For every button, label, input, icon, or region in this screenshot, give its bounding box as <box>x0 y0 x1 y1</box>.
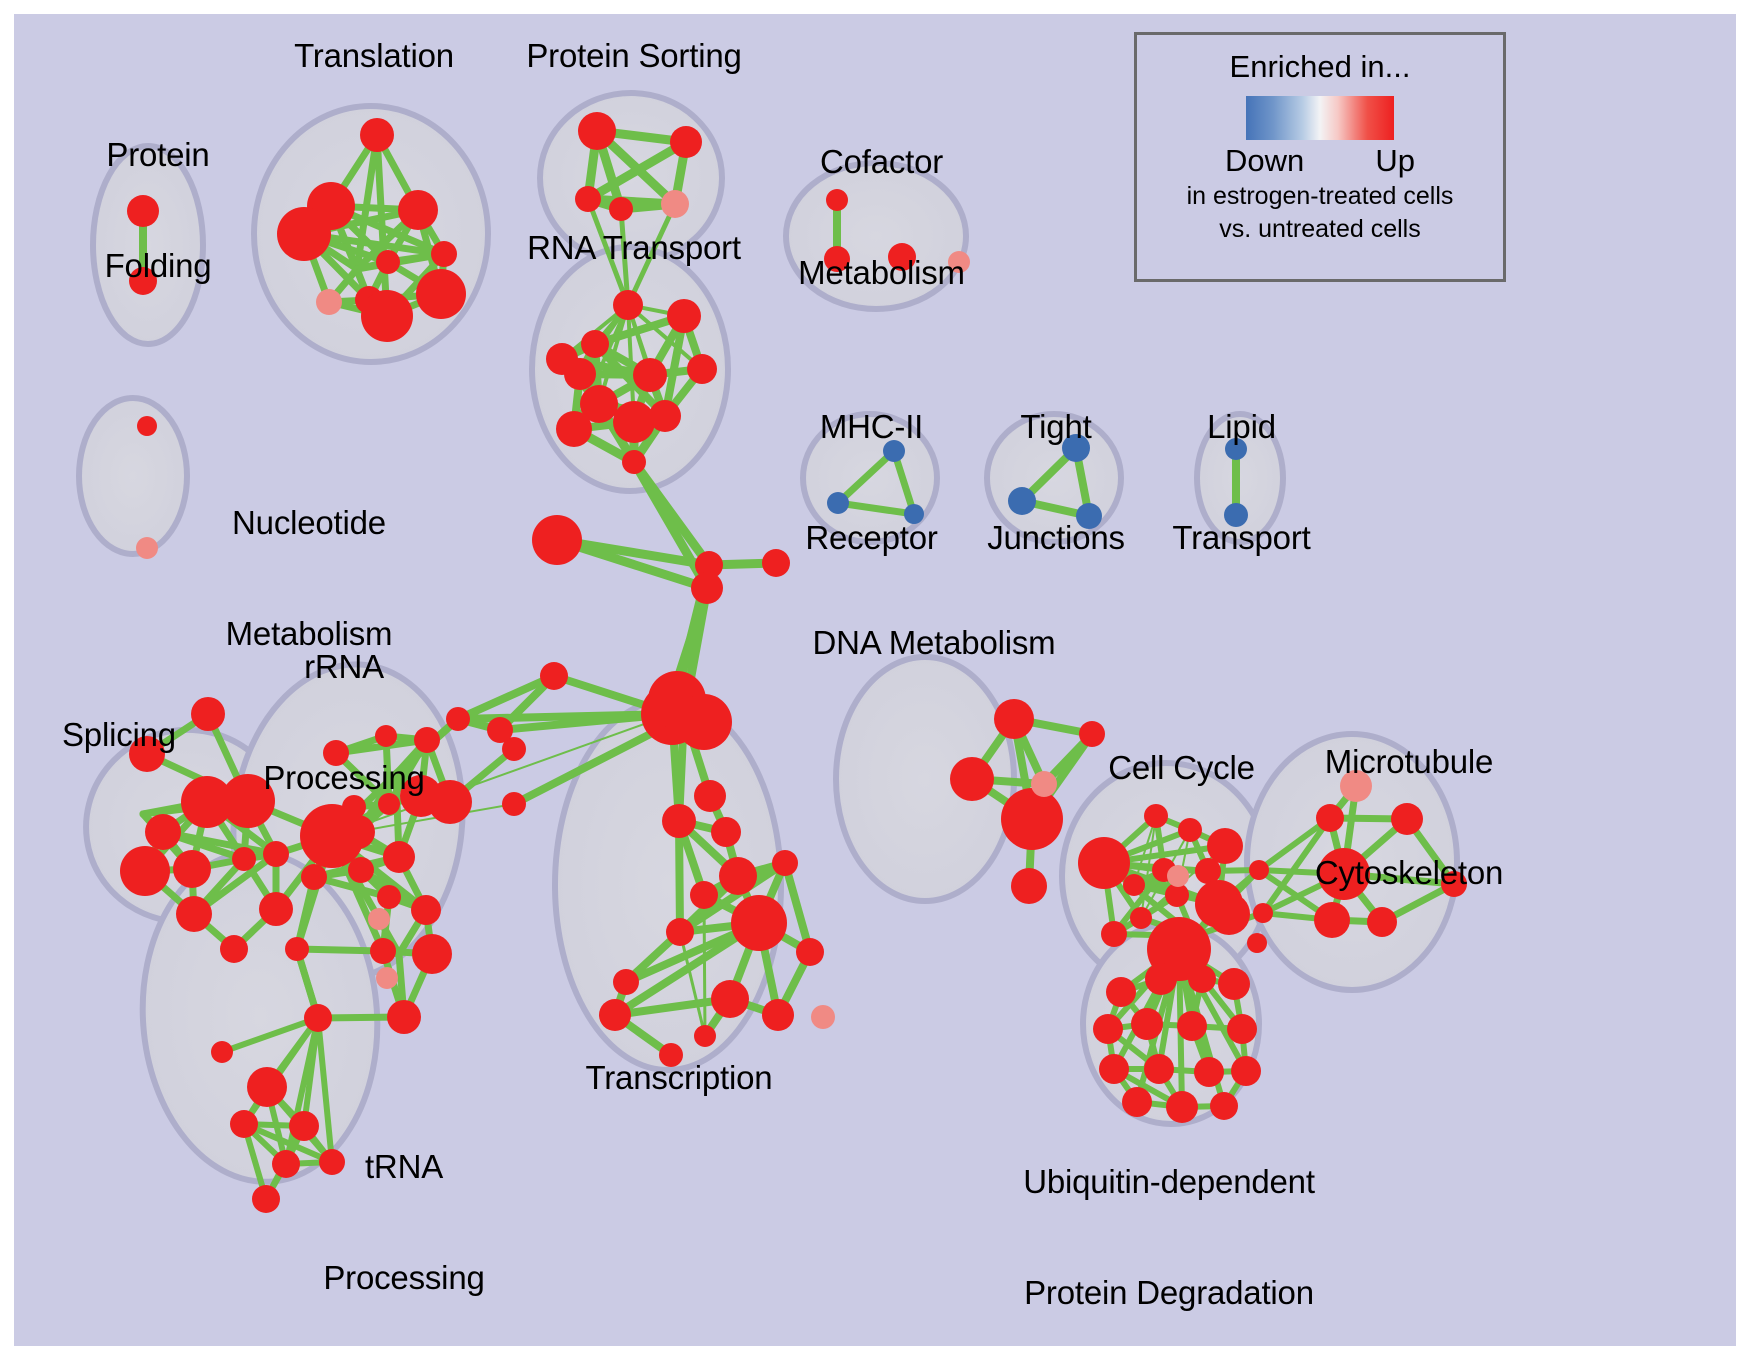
legend-panel: Enriched in... Down Up in estrogen-treat… <box>1134 32 1506 282</box>
network-plot-area: Protein Folding Translation Protein Sort… <box>14 14 1736 1346</box>
label-ubiquitin-degradation: Ubiquitin-dependent Protein Degradation <box>974 1089 1364 1360</box>
label-translation: Translation <box>259 37 489 74</box>
legend-up-label: Up <box>1375 144 1415 178</box>
figure-canvas: Protein Folding Translation Protein Sort… <box>0 0 1750 1360</box>
legend-subtitle-line1: in estrogen-treated cells <box>1187 182 1454 211</box>
label-transcription: Transcription <box>564 1059 794 1096</box>
label-mhc-ii-receptor: MHC-II Receptor <box>794 334 949 630</box>
legend-color-gradient-bar <box>1246 96 1394 140</box>
legend-title: Enriched in... <box>1230 49 1411 85</box>
legend-down-label: Down <box>1225 144 1304 178</box>
label-splicing: Splicing <box>62 716 176 753</box>
label-microtubule-cytoskeleton: Microtubule Cytoskeleton <box>1294 669 1524 965</box>
hull-nucleotide <box>79 398 187 554</box>
label-protein-folding: Protein Folding <box>78 62 238 358</box>
legend-endpoints: Down Up <box>1225 144 1415 178</box>
label-cell-cycle: Cell Cycle <box>1089 749 1274 786</box>
label-tight-junctions: Tight Junctions <box>976 334 1136 630</box>
label-cofactor-metabolism: Cofactor Metabolism <box>774 69 989 365</box>
label-trna-processing: tRNA Processing <box>304 1074 504 1360</box>
label-lipid-transport: Lipid Transport <box>1154 334 1329 630</box>
legend-subtitle-line2: vs. untreated cells <box>1219 215 1421 244</box>
label-protein-sorting: Protein Sorting <box>499 37 769 74</box>
label-rna-transport: RNA Transport <box>504 229 764 266</box>
label-rrna-processing: rRNA Processing <box>254 574 434 870</box>
label-dna-metabolism: DNA Metabolism <box>804 624 1064 661</box>
